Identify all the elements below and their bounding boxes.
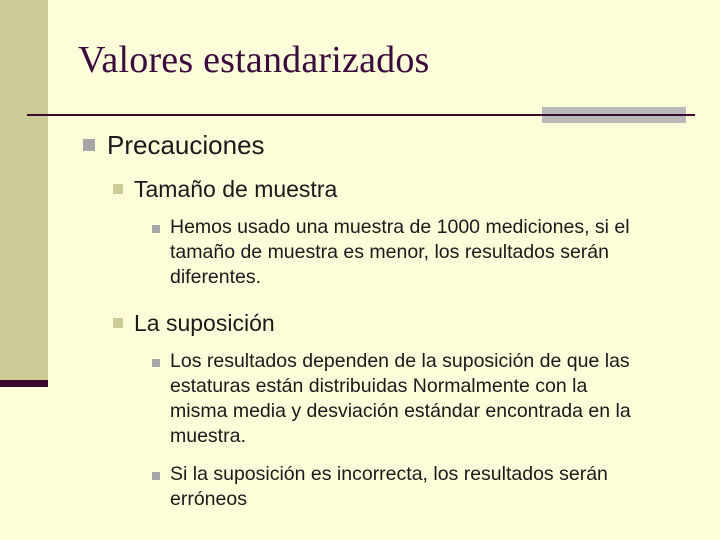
bullet-level2-la-suposicion: La suposición bbox=[0, 307, 720, 339]
bullet-level2-tamano-de-muestra: Tamaño de muestra bbox=[0, 173, 720, 205]
slide-title-text: Valores estandarizados bbox=[78, 39, 430, 81]
spacer bbox=[0, 206, 720, 215]
square-bullet-icon bbox=[113, 184, 123, 194]
spacer bbox=[0, 340, 720, 349]
bullet-level3-suposicion-detail-1: Los resultados dependen de la suposición… bbox=[0, 349, 720, 449]
title-divider-rule bbox=[27, 114, 695, 116]
bullet-level1-label: Precauciones bbox=[107, 128, 265, 162]
slide-canvas: Valores estandarizados Precauciones Tama… bbox=[0, 0, 720, 540]
bullet-level1-precauciones: Precauciones bbox=[0, 128, 720, 162]
bullet-level3-text: Hemos usado una muestra de 1000 medicion… bbox=[170, 215, 640, 290]
square-bullet-icon bbox=[113, 318, 123, 328]
square-bullet-icon bbox=[152, 472, 160, 480]
bullet-level3-text: Los resultados dependen de la suposición… bbox=[170, 349, 640, 449]
square-bullet-icon bbox=[83, 139, 95, 151]
spacer bbox=[0, 294, 720, 307]
slide-body: Precauciones Tamaño de muestra Hemos usa… bbox=[0, 128, 720, 516]
spacer bbox=[0, 164, 720, 173]
bullet-level3-tamano-detail: Hemos usado una muestra de 1000 medicion… bbox=[0, 215, 720, 290]
bullet-level3-suposicion-detail-2: Si la suposición es incorrecta, los resu… bbox=[0, 462, 720, 512]
square-bullet-icon bbox=[152, 225, 160, 233]
bullet-level3-text: Si la suposición es incorrecta, los resu… bbox=[170, 462, 640, 512]
spacer bbox=[0, 453, 720, 462]
square-bullet-icon bbox=[152, 359, 160, 367]
slide-title: Valores estandarizados bbox=[78, 38, 678, 82]
bullet-level2-label: Tamaño de muestra bbox=[134, 173, 337, 205]
bullet-level2-label: La suposición bbox=[134, 307, 275, 339]
